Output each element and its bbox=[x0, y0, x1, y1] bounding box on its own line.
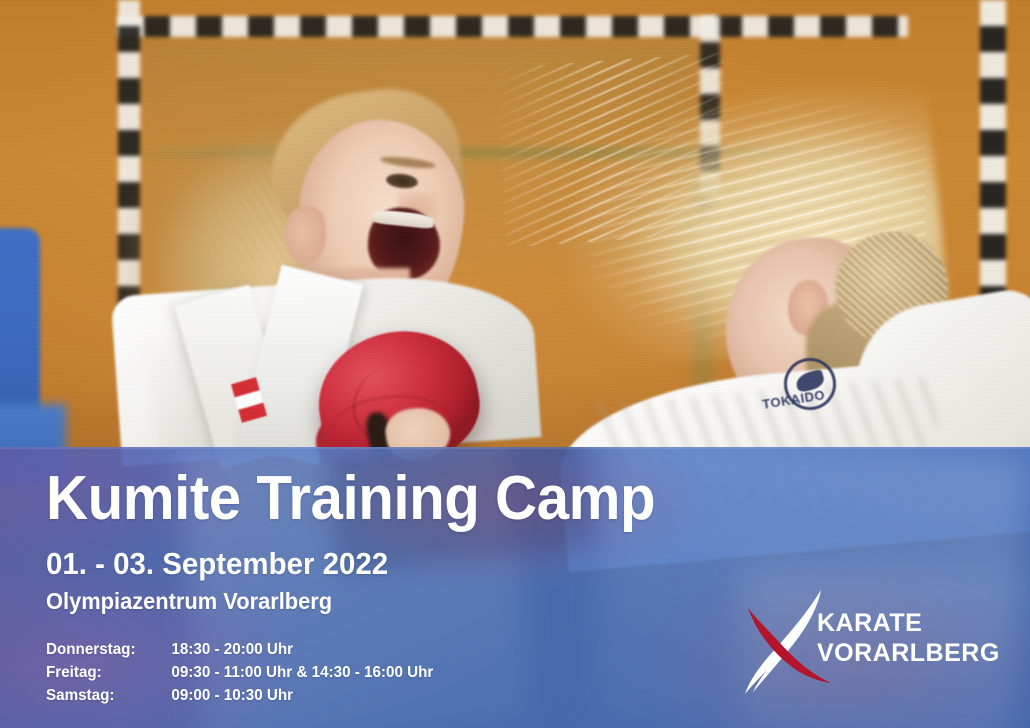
event-poster: TOKAIDO Kumite Training Camp 01. - 03. S… bbox=[0, 0, 1030, 728]
schedule-day: Samstag: bbox=[46, 684, 171, 707]
band-content: Kumite Training Camp 01. - 03. September… bbox=[0, 0, 1030, 728]
event-venue: Olympiazentrum Vorarlberg bbox=[46, 590, 332, 613]
logo-wordmark: KARATE VORARLBERG bbox=[817, 608, 1000, 668]
schedule-row: Donnerstag: 18:30 - 20:00 Uhr bbox=[46, 638, 433, 661]
schedule-time: 09:00 - 10:30 Uhr bbox=[171, 684, 293, 707]
logo-line-vorarlberg: VORARLBERG bbox=[817, 638, 1000, 668]
event-schedule: Donnerstag: 18:30 - 20:00 Uhr Freitag: 0… bbox=[46, 638, 433, 707]
event-date: 01. - 03. September 2022 bbox=[46, 548, 388, 579]
schedule-time: 18:30 - 20:00 Uhr bbox=[171, 638, 293, 661]
schedule-time: 09:30 - 11:00 Uhr & 14:30 - 16:00 Uhr bbox=[171, 661, 433, 684]
schedule-day: Freitag: bbox=[46, 661, 171, 684]
schedule-row: Freitag: 09:30 - 11:00 Uhr & 14:30 - 16:… bbox=[46, 661, 433, 684]
karate-vorarlberg-logo: KARATE VORARLBERG bbox=[735, 586, 1000, 696]
schedule-row: Samstag: 09:00 - 10:30 Uhr bbox=[46, 684, 433, 707]
event-title: Kumite Training Camp bbox=[46, 468, 655, 530]
schedule-day: Donnerstag: bbox=[46, 638, 171, 661]
logo-line-karate: KARATE bbox=[817, 608, 1000, 638]
